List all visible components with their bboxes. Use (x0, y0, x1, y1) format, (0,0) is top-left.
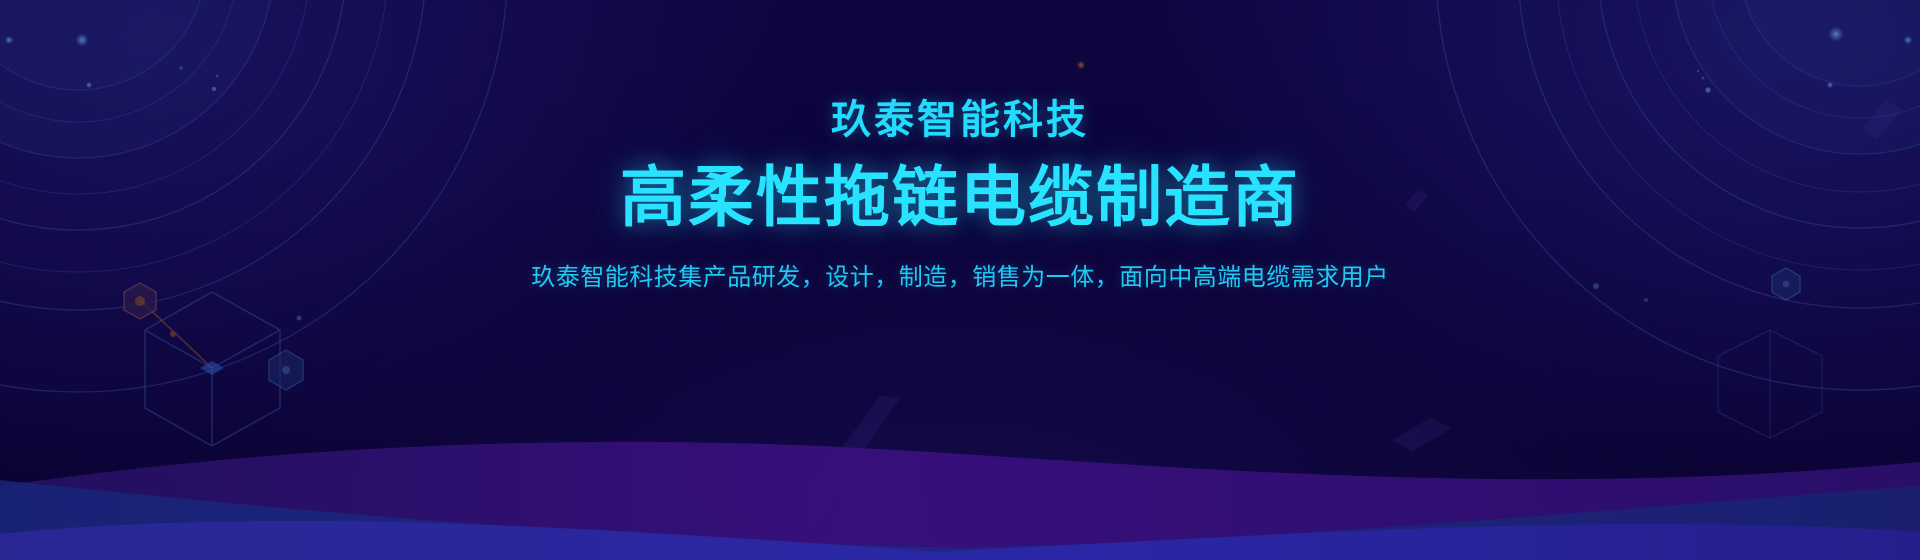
left-hexagon-nodes (124, 283, 303, 390)
right-wireframe-nodes (1718, 330, 1822, 438)
banner-subline: 玖泰智能科技集产品研发，设计，制造，销售为一体，面向中高端电缆需求用户 (531, 264, 1389, 293)
bottom-wave-shapes (0, 442, 1920, 560)
banner-headline: 高柔性拖链电缆制造商 (620, 164, 1300, 230)
right-hexagon-nodes (1772, 268, 1800, 300)
hero-banner: 玖泰智能科技 高柔性拖链电缆制造商 玖泰智能科技集产品研发，设计，制造，销售为一… (0, 0, 1920, 560)
banner-eyebrow: 玖泰智能科技 (831, 100, 1089, 140)
